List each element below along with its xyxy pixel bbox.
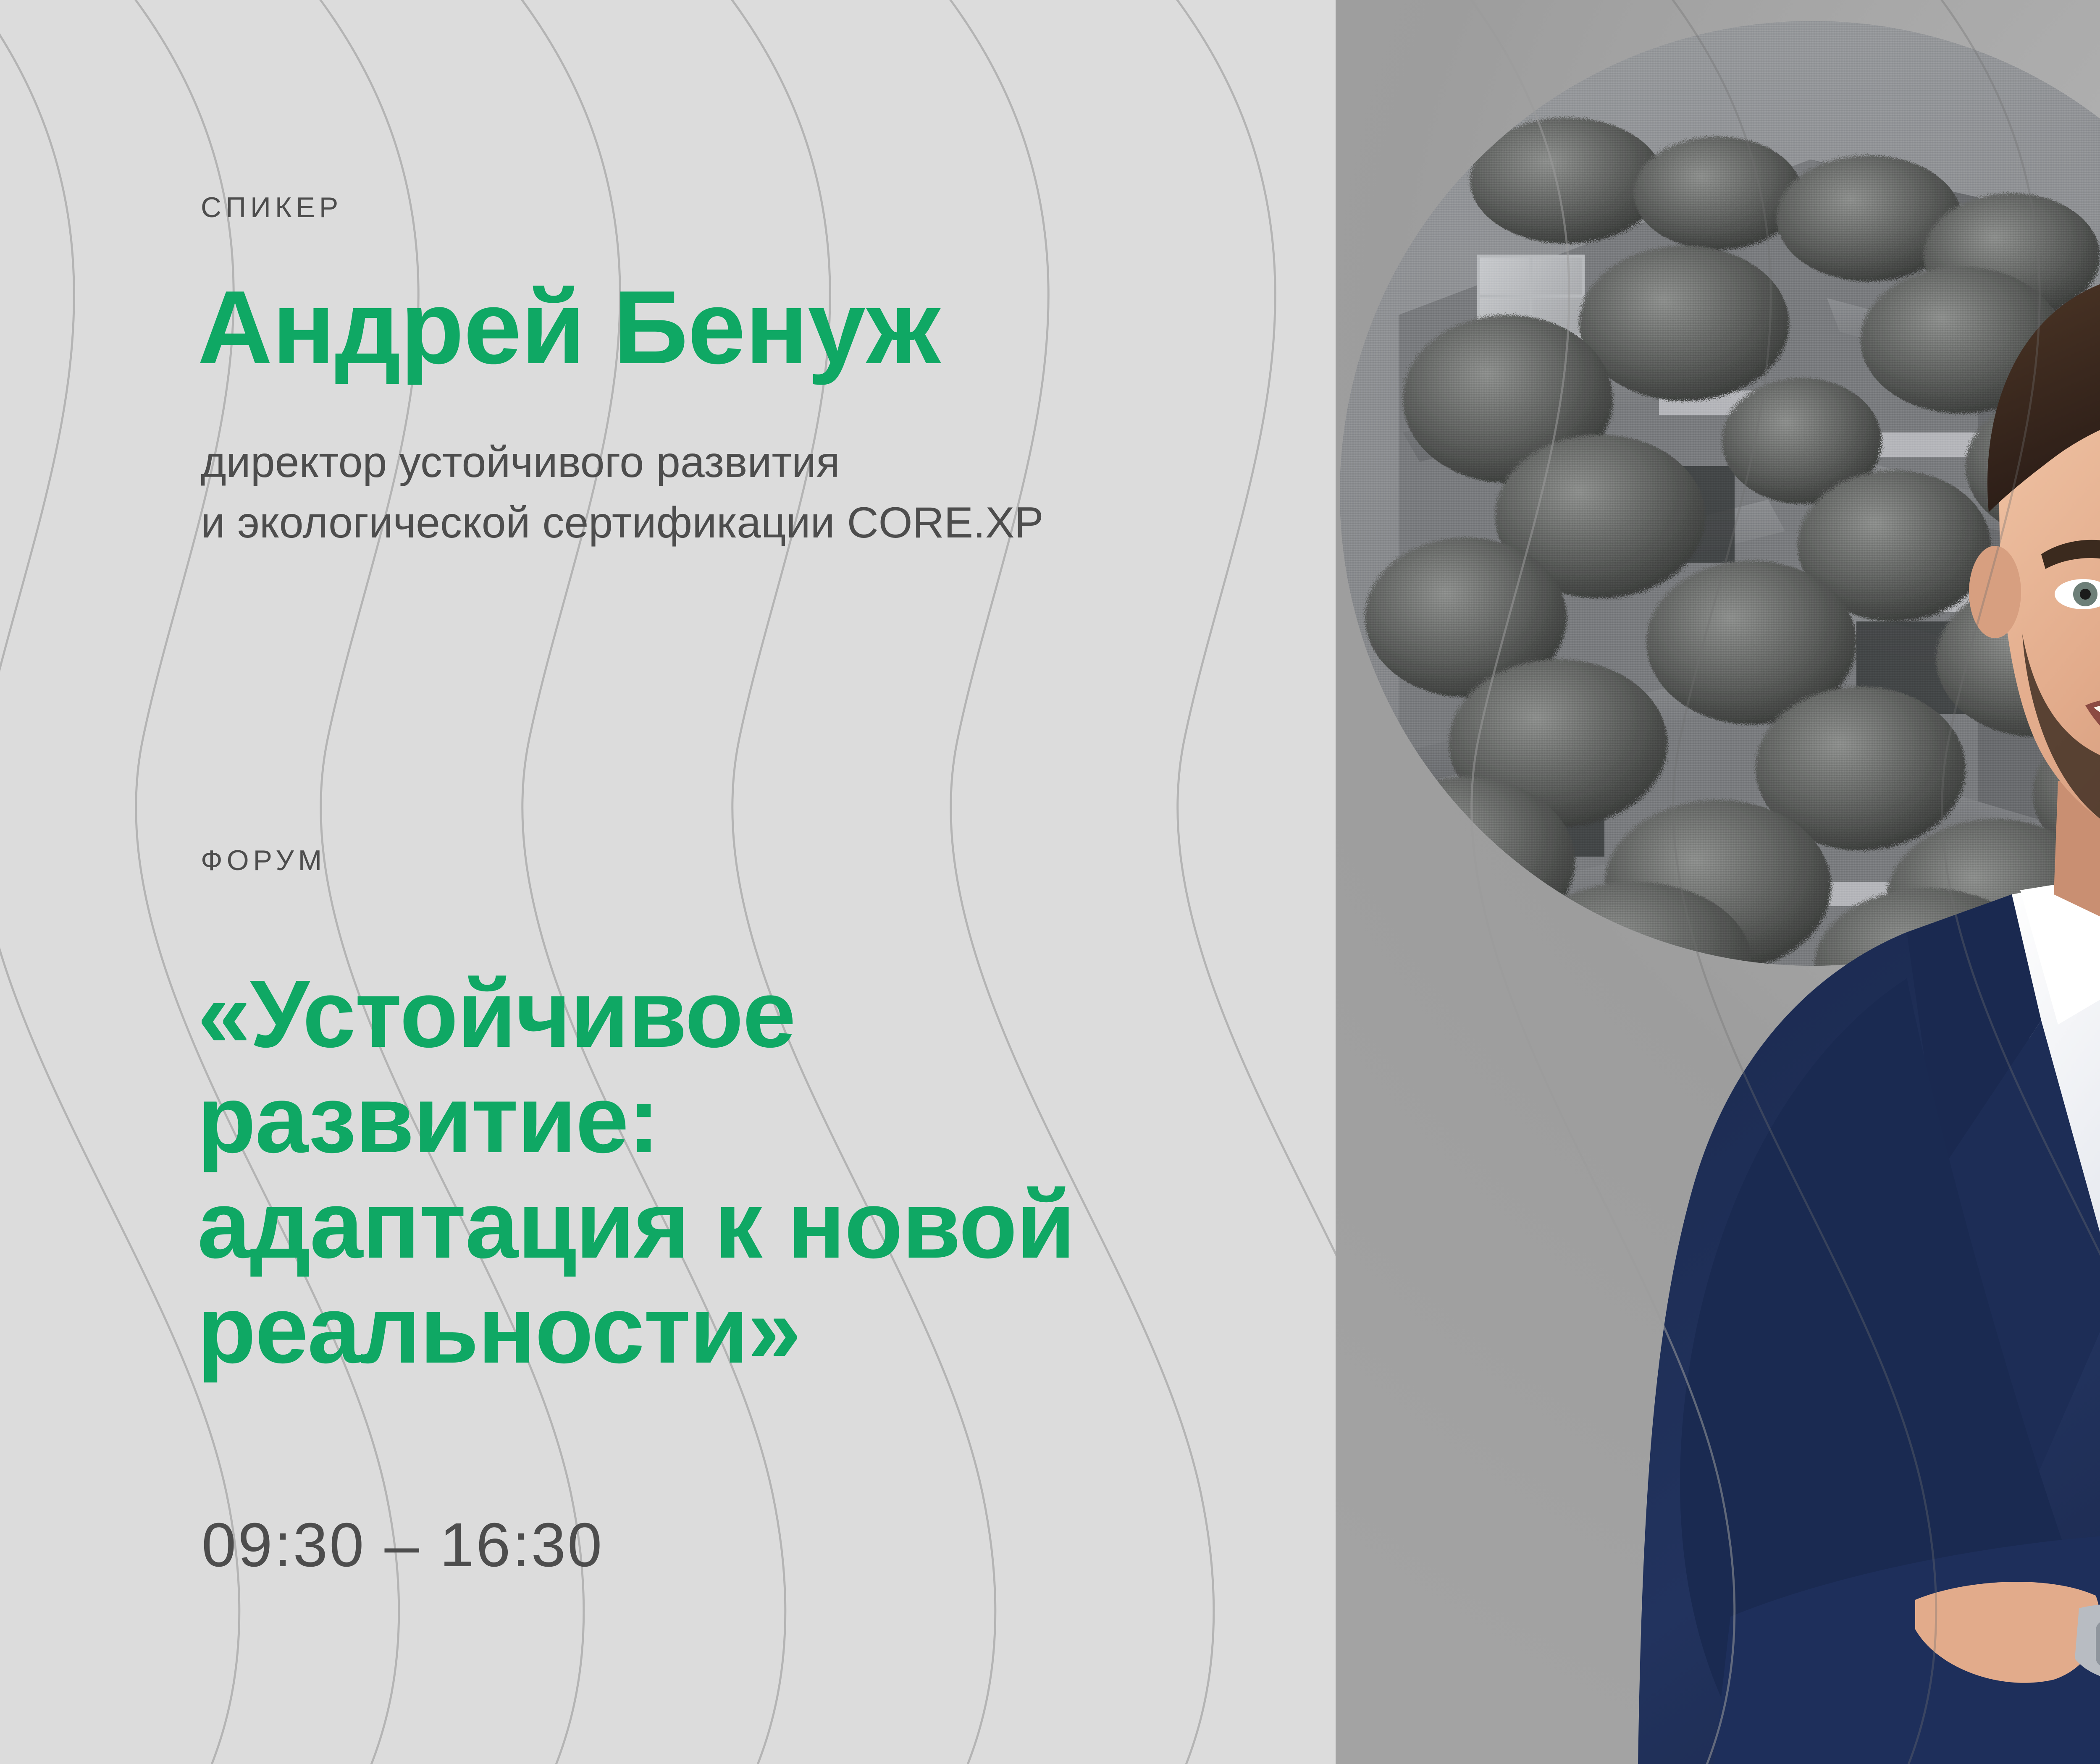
- text-content: СПИКЕР Андрей Бенуж директор устойчивого…: [0, 0, 1302, 1764]
- speaker-role: директор устойчивого развития и экологич…: [201, 432, 1044, 553]
- forum-title-line-4: реальности»: [197, 1277, 1074, 1383]
- speaker-portrait: [1495, 181, 2100, 1764]
- speaker-role-line-1: директор устойчивого развития: [201, 432, 1044, 493]
- speaker-role-line-2: и экологической сертификации CORE.XP: [201, 493, 1044, 553]
- forum-title-line-1: «Устойчивое: [197, 962, 1074, 1067]
- speaker-name: Андрей Бенуж: [197, 275, 940, 379]
- left-ear: [1969, 546, 2021, 638]
- forum-time: 09:30 – 16:30: [202, 1510, 604, 1581]
- event-banner: СПИКЕР Андрей Бенуж директор устойчивого…: [0, 0, 2100, 1764]
- forum-title: «Устойчивое развитие: адаптация к новой …: [197, 962, 1074, 1383]
- forum-title-line-3: адаптация к новой: [197, 1172, 1074, 1278]
- speaker-kicker: СПИКЕР: [201, 191, 342, 224]
- forum-title-line-2: развитие:: [197, 1067, 1074, 1172]
- forum-kicker: ФОРУМ: [201, 844, 326, 877]
